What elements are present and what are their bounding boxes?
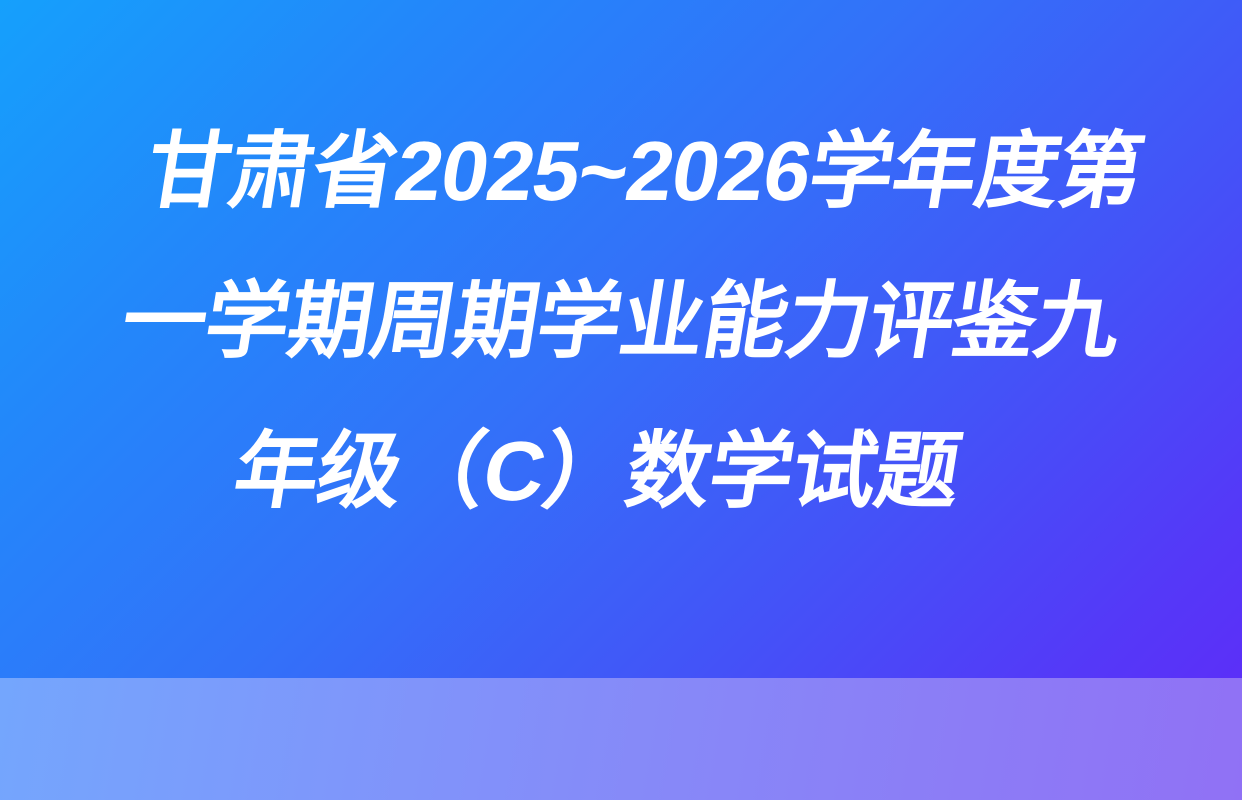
footer-band: 答案解析网APP [0,678,1242,800]
page-title-text: 甘肃省2025~2026学年度第一学期周期学业能力评鉴九年级（C）数学试题 [116,124,1150,518]
exam-cover-poster: 甘肃省2025~2026学年度第一学期周期学业能力评鉴九年级（C）数学试题 答案… [0,0,1242,800]
page-title: 甘肃省2025~2026学年度第一学期周期学业能力评鉴九年级（C）数学试题 [65,96,1176,546]
